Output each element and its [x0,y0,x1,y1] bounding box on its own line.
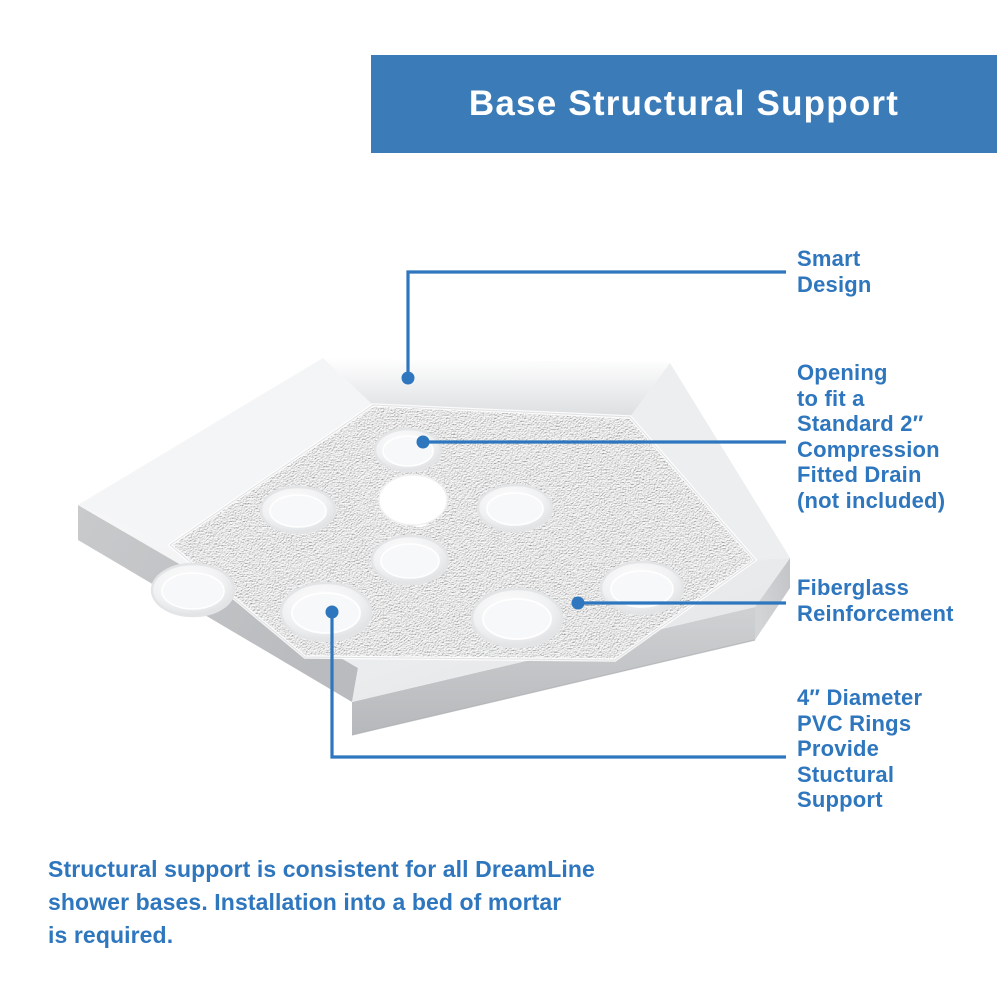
page-title: Base Structural Support [469,84,899,124]
infographic-canvas: Base Structural Support [0,0,1000,1000]
callout-line: Provide [797,736,922,762]
callout-line: 4″ Diameter [797,685,922,711]
callout-fiberglass-reinforcement: Fiberglass Reinforcement [797,575,954,626]
callout-line: PVC Rings [797,711,922,737]
callout-drain-opening: Opening to fit a Standard 2″ Compression… [797,360,945,513]
callout-line: Fitted Drain [797,462,945,488]
header-banner: Base Structural Support [371,55,997,153]
callout-line: to fit a [797,386,945,412]
caption-line: Structural support is consistent for all… [48,853,688,886]
callout-line: Reinforcement [797,601,954,627]
callout-line: Stuctural [797,762,922,788]
callout-smart-design: Smart Design [797,246,872,297]
caption-line: is required. [48,919,688,952]
callout-line: Opening [797,360,945,386]
callout-line: Compression [797,437,945,463]
callout-pvc-rings: 4″ Diameter PVC Rings Provide Stuctural … [797,685,922,813]
callout-line: Smart [797,246,872,272]
product-image-neo-angle-shower-base [55,330,795,750]
footer-caption: Structural support is consistent for all… [48,853,688,952]
callout-line: Standard 2″ [797,411,945,437]
caption-line: shower bases. Installation into a bed of… [48,886,688,919]
callout-line: Support [797,787,922,813]
callout-line: Design [797,272,872,298]
callout-line: Fiberglass [797,575,954,601]
callout-line: (not included) [797,488,945,514]
